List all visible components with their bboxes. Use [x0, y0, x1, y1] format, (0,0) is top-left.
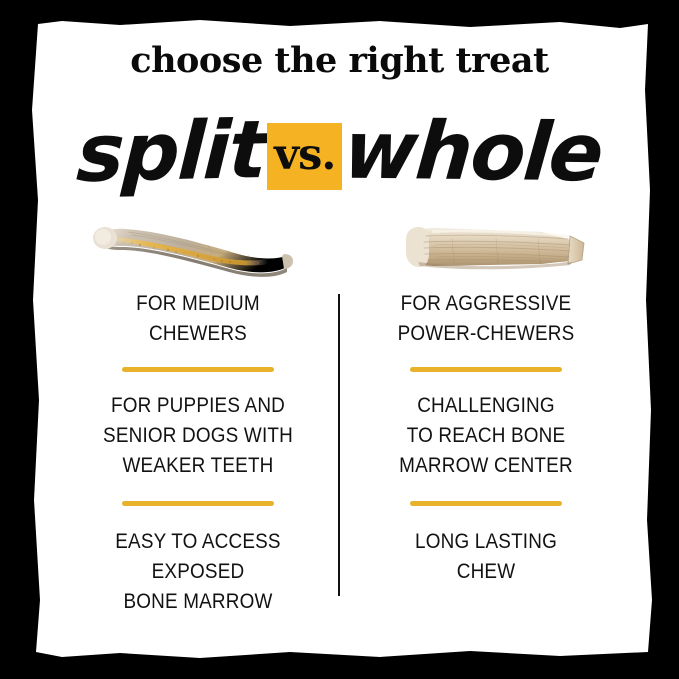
fact-divider-rule	[122, 501, 274, 506]
fact-line: FOR MEDIUM	[78, 288, 317, 318]
column-whole: FOR AGGRESSIVE POWER-CHEWERS CHALLENGING…	[350, 288, 622, 586]
fact-line: FOR PUPPIES AND	[78, 390, 317, 420]
title-vs-badge: vs.	[267, 123, 342, 190]
fact-line: LONG LASTING	[366, 526, 605, 556]
fact-line: SENIOR DOGS WITH	[78, 420, 317, 450]
fact-item: FOR AGGRESSIVE POWER-CHEWERS	[366, 288, 605, 348]
fact-line: EXPOSED	[78, 556, 317, 586]
fact-line: WEAKER TEETH	[78, 450, 317, 480]
fact-line: EASY TO ACCESS	[78, 526, 317, 556]
fact-divider-rule	[410, 367, 562, 372]
fact-line: CHALLENGING	[366, 390, 605, 420]
fact-divider-rule	[122, 367, 274, 372]
column-split: FOR MEDIUM CHEWERS FOR PUPPIES AND SENIO…	[62, 288, 334, 616]
whole-antler-photo	[392, 212, 602, 284]
title-word-split: split	[75, 110, 267, 194]
fact-line: CHEWERS	[78, 318, 317, 348]
split-antler-photo	[88, 212, 298, 284]
fact-item: FOR MEDIUM CHEWERS	[78, 288, 317, 348]
fact-item: CHALLENGING TO REACH BONE MARROW CENTER	[366, 390, 605, 480]
fact-line: BONE MARROW	[78, 586, 317, 616]
column-divider	[338, 294, 340, 596]
fact-line: FOR AGGRESSIVE	[366, 288, 605, 318]
fact-item: LONG LASTING CHEW	[366, 526, 605, 586]
title-word-whole: whole	[341, 111, 605, 194]
fact-line: TO REACH BONE	[366, 420, 605, 450]
fact-item: EASY TO ACCESS EXPOSED BONE MARROW	[78, 526, 317, 616]
fact-line: MARROW CENTER	[366, 450, 605, 480]
infographic-canvas: choose the right treat split vs. whole	[0, 0, 679, 679]
fact-item: FOR PUPPIES AND SENIOR DOGS WITH WEAKER …	[78, 390, 317, 480]
fact-line: CHEW	[366, 556, 605, 586]
fact-line: POWER-CHEWERS	[366, 318, 605, 348]
page-title: split vs. whole	[0, 102, 679, 202]
fact-divider-rule	[410, 501, 562, 506]
page-eyebrow-headline: choose the right treat	[0, 40, 679, 81]
